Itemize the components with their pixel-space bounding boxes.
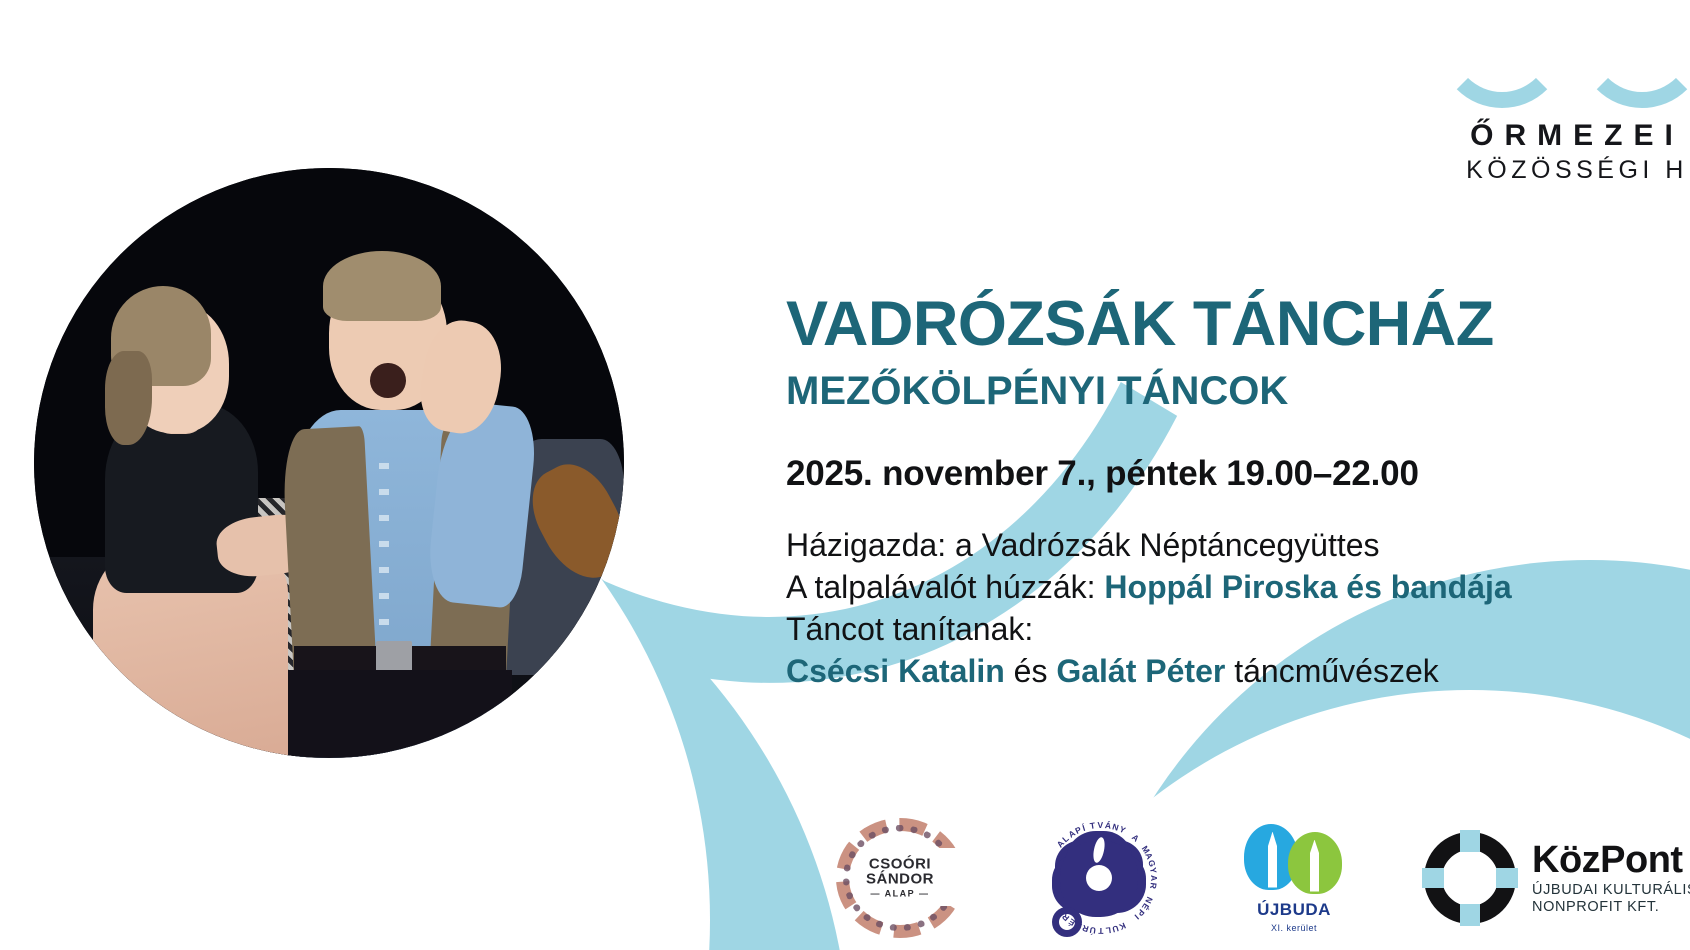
double-arch-icon: [1432, 22, 1690, 108]
sponsor-logo-csoori-sandor-alap: CSOÓRI SÁNDOR — ALAP —: [836, 818, 964, 938]
seal-character: Y: [1148, 866, 1159, 874]
photo-woman-hair-strand: [105, 351, 152, 445]
photo-man-mouth: [370, 363, 405, 398]
kozpont-notch-right: [1496, 868, 1518, 888]
kozpont-sub-1: ÚJBUDAI KULTURÁLIS: [1532, 883, 1690, 898]
seal-character: T: [1097, 925, 1103, 935]
event-detail-highlight: Hoppál Piroska és bandája: [1104, 569, 1511, 605]
seal-character: A: [1149, 875, 1159, 882]
csoori-wordmark: CSOÓRI SÁNDOR — ALAP —: [836, 856, 964, 899]
kozpont-notch-left: [1422, 868, 1444, 888]
csoori-line-1: CSOÓRI: [836, 856, 964, 871]
seal-character: V: [1097, 819, 1104, 829]
seal-character: L: [1104, 925, 1111, 936]
event-detail-line: A talpalávalót húzzák: Hoppál Piroska és…: [786, 567, 1690, 609]
brand-logo: ŐRMEZEI KÖZÖSSÉGI H: [1362, 22, 1690, 184]
event-detail-line: Csécsi Katalin és Galát Péter táncművész…: [786, 651, 1690, 693]
event-detail-line: Házigazda: a Vadrózsák Néptáncegyüttes: [786, 525, 1690, 567]
photo-man-shirt-buttons: [379, 463, 388, 640]
ujbuda-name: ÚJBUDA: [1244, 900, 1344, 920]
sponsor-logo-row: CSOÓRI SÁNDOR — ALAP — ALAPÍTVÁNY A MAGY…: [836, 815, 1690, 940]
seal-character: A: [1130, 832, 1142, 844]
kozpont-sub-2: NONPROFIT KFT.: [1532, 900, 1690, 915]
dancers-photo: [34, 168, 624, 758]
event-poster: ŐRMEZEI KÖZÖSSÉGI H VADRÓZSÁK TÁNCHÁZ ME…: [0, 0, 1690, 950]
event-detail-highlight: Csécsi Katalin: [786, 653, 1005, 689]
event-detail-text: és: [1005, 653, 1057, 689]
ujbuda-district: XI. kerület: [1244, 923, 1344, 933]
event-details: Házigazda: a Vadrózsák NéptáncegyüttesA …: [786, 525, 1690, 693]
event-detail-text: Táncot tanítanak:: [786, 611, 1033, 647]
brand-name: ŐRMEZEI: [1362, 120, 1690, 152]
event-detail-text: Házigazda: a Vadrózsák Néptáncegyüttes: [786, 527, 1380, 563]
photo-content: [34, 168, 624, 758]
sponsor-logo-alapitvany-nepi-kultura: ALAPÍTVÁNY A MAGYAR NÉPI KULTÚRÁÉRT: [1038, 817, 1164, 939]
kozpont-notch-bottom: [1460, 904, 1480, 926]
event-text-block: VADRÓZSÁK TÁNCHÁZ MEZŐKÖLPÉNYI TÁNCOK 20…: [786, 292, 1690, 693]
csoori-line-3: — ALAP —: [836, 890, 964, 899]
arch-left: [1438, 0, 1566, 108]
kozpont-ring-icon: [1424, 832, 1516, 924]
kozpont-wordmark: KözPont ÚJBUDAI KULTURÁLIS NONPROFIT KFT…: [1532, 841, 1690, 914]
event-subtitle: MEZŐKÖLPÉNYI TÁNCOK: [786, 367, 1690, 415]
event-detail-text: táncművészek: [1225, 653, 1438, 689]
event-title: VADRÓZSÁK TÁNCHÁZ: [786, 292, 1690, 356]
event-detail-highlight: Galát Péter: [1056, 653, 1225, 689]
csoori-line-2: SÁNDOR: [836, 871, 964, 886]
seal-character: T: [1089, 820, 1097, 831]
event-detail-text: A talpalávalót húzzák:: [786, 569, 1104, 605]
kozpont-name: KözPont: [1532, 841, 1690, 879]
alapitvany-circular-text: ALAPÍTVÁNY A MAGYAR NÉPI KULTÚRÁÉRT: [1038, 817, 1164, 939]
event-detail-line: Táncot tanítanak:: [786, 609, 1690, 651]
photo-man-hair: [323, 251, 441, 322]
brand-subtitle: KÖZÖSSÉGI H: [1362, 156, 1690, 185]
event-datetime: 2025. november 7., péntek 19.00–22.00: [786, 454, 1690, 494]
sponsor-logo-ujbuda: ÚJBUDA XI. kerület: [1238, 818, 1350, 938]
arch-right: [1578, 0, 1690, 108]
seal-character: R: [1148, 881, 1159, 889]
photo-man-trousers: [288, 670, 512, 759]
kozpont-notch-top: [1460, 830, 1480, 852]
sponsor-logo-kozpont: KözPont ÚJBUDAI KULTURÁLIS NONPROFIT KFT…: [1424, 823, 1690, 933]
